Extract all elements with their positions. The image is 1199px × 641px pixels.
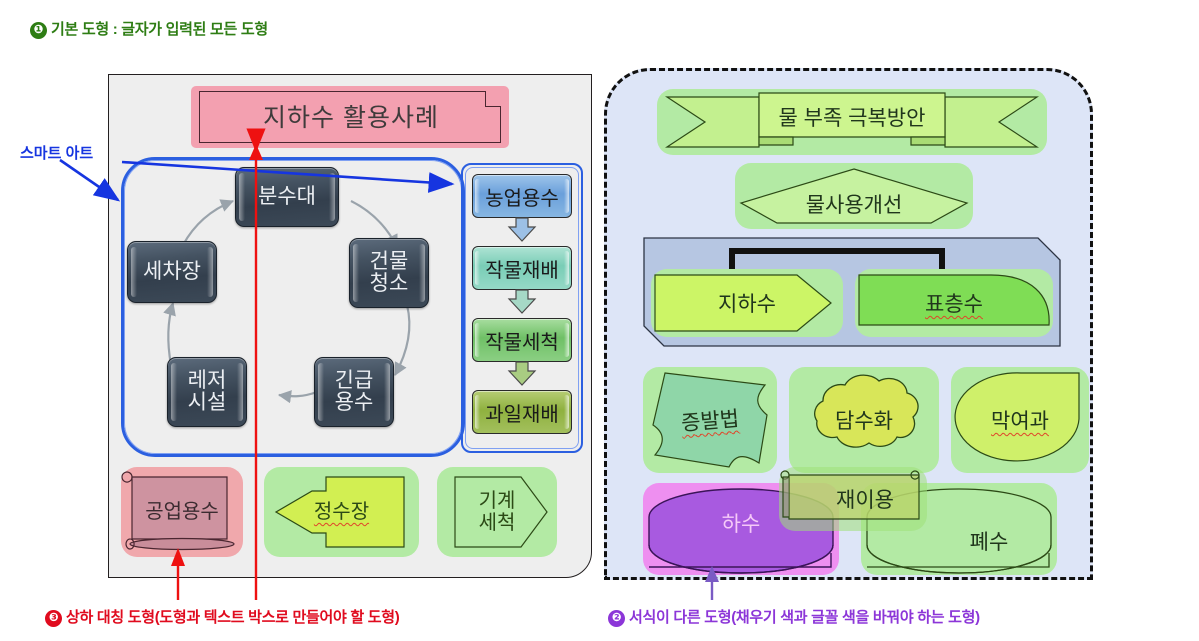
shape-membrane-filtration[interactable]: 막여과 xyxy=(951,367,1089,473)
title-shape-label: 지하수 활용사례 xyxy=(200,92,502,144)
caption-symmetric-shapes: ❸상하 대칭 도형(도형과 텍스트 박스로 만들어야 할 도형) xyxy=(45,606,399,627)
title-shape-groundwater-usecase[interactable]: 지하수 활용사례 xyxy=(191,86,509,148)
caption-text-1: 기본 도형 : 글자가 입력된 모든 도형 xyxy=(51,21,268,38)
shape-surface-water-label: 표층수 xyxy=(855,269,1053,337)
shape-desalination[interactable]: 담수화 xyxy=(789,367,939,473)
shape-reuse[interactable]: 재이용 xyxy=(779,467,927,531)
shape-surface-water[interactable]: 표층수 xyxy=(855,269,1053,337)
caption-text-3: 상하 대칭 도형(도형과 텍스트 박스로 만들어야 할 도형) xyxy=(66,609,399,626)
shape-industrial-water[interactable]: 공업용수 xyxy=(121,467,243,557)
shape-machine-washing-label: 기계 세척 xyxy=(437,467,557,557)
chain-box-agricultural-water-label: 농업용수 xyxy=(485,182,559,211)
shape-membrane-filtration-label: 막여과 xyxy=(951,367,1089,473)
right-diagram-panel[interactable]: 물 부족 극복방안 물사용개선 지하수 표층수 xyxy=(604,68,1093,580)
shape-machine-washing[interactable]: 기계 세척 xyxy=(437,467,557,557)
shape-groundwater[interactable]: 지하수 xyxy=(651,269,843,337)
shape-groundwater-label: 지하수 xyxy=(651,269,843,337)
shape-evaporation-method[interactable]: 증발법 xyxy=(643,367,777,473)
chain-box-crop-cultivation-label: 작물재배 xyxy=(485,254,559,283)
shape-water-shortage-solution[interactable]: 물 부족 극복방안 xyxy=(657,89,1047,155)
shape-water-use-improvement[interactable]: 물사용개선 xyxy=(735,163,973,229)
shape-water-use-improvement-label: 물사용개선 xyxy=(735,171,973,237)
cycle-node-leisure-facility-label: 레저 시설 xyxy=(188,370,227,414)
chain-box-crop-washing-label: 작물세척 xyxy=(485,326,559,355)
shape-water-treatment-plant[interactable]: 정수장 xyxy=(264,467,419,557)
shape-water-shortage-solution-label: 물 부족 극복방안 xyxy=(657,84,1047,150)
cycle-node-fountain[interactable]: 분수대 xyxy=(235,167,339,227)
cycle-node-carwash[interactable]: 세차장 xyxy=(127,241,217,303)
source-group-container[interactable]: 지하수 표층수 xyxy=(643,237,1061,347)
cycle-node-carwash-label: 세차장 xyxy=(143,261,201,283)
title-shape-inner: 지하수 활용사례 xyxy=(199,91,501,143)
caption-text-2: 서식이 다른 도형(채우기 색과 글꼴 색을 바꿔야 하는 도형) xyxy=(629,609,980,626)
caption-different-format-shapes: ❷서식이 다른 도형(채우기 색과 글꼴 색을 바꿔야 하는 도형) xyxy=(608,606,980,627)
cycle-node-building-cleaning-label: 건물 청소 xyxy=(370,251,409,295)
shape-industrial-water-label: 공업용수 xyxy=(121,467,243,557)
shape-water-treatment-plant-label: 정수장 xyxy=(264,467,419,557)
cycle-node-leisure-facility[interactable]: 레저 시설 xyxy=(167,357,247,427)
cycle-node-building-cleaning[interactable]: 건물 청소 xyxy=(349,238,429,308)
shape-reuse-label: 재이용 xyxy=(791,467,939,531)
caption-number-3: ❸ xyxy=(45,610,62,627)
shape-evaporation-method-label: 증발법 xyxy=(639,361,782,478)
left-diagram-panel[interactable]: 지하수 활용사례 분수대 건물 청소 긴급 용수 레저 시설 세차장 농업용수 xyxy=(108,74,592,578)
chain-box-fruit-cultivation-label: 과일재배 xyxy=(485,398,559,427)
caption-number-2: ❷ xyxy=(608,610,625,627)
caption-number-1: ❶ xyxy=(30,22,47,39)
smart-art-annotation-label: 스마트 아트 xyxy=(20,142,93,163)
cycle-node-emergency-water-label: 긴급 용수 xyxy=(335,370,374,414)
shape-desalination-label: 담수화 xyxy=(789,367,939,473)
cycle-node-emergency-water[interactable]: 긴급 용수 xyxy=(314,357,394,427)
cycle-node-fountain-label: 분수대 xyxy=(258,186,316,208)
caption-basic-shapes: ❶기본 도형 : 글자가 입력된 모든 도형 xyxy=(30,18,268,39)
